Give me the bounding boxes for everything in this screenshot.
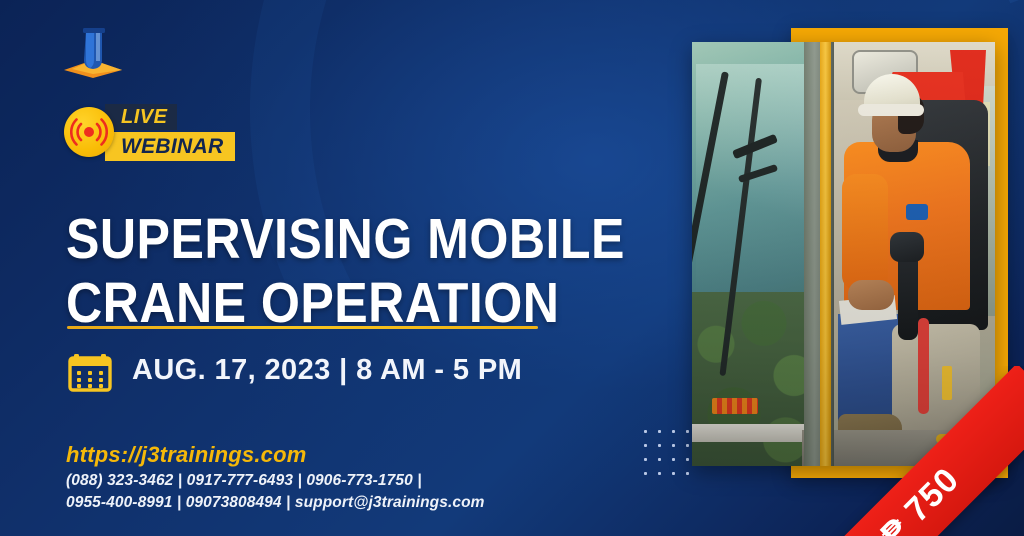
website-link[interactable]: https://j3trainings.com [66, 442, 485, 467]
dot [686, 444, 689, 447]
live-label: LIVE [105, 104, 177, 130]
title-divider [67, 326, 538, 329]
dot [644, 444, 647, 447]
dot [644, 430, 647, 433]
live-webinar-badge: LIVE WEBINAR [64, 104, 235, 160]
dot [658, 444, 661, 447]
dot [644, 472, 647, 475]
price-amount: ₱ 750 [873, 460, 967, 536]
badge-text-group: LIVE WEBINAR [105, 104, 235, 161]
calendar-icon [66, 346, 114, 394]
title-line-2: CRANE OPERATION [66, 276, 559, 331]
webinar-label: WEBINAR [105, 132, 235, 161]
live-broadcast-icon [64, 107, 114, 157]
dot [672, 458, 675, 461]
phone-line-1: (088) 323-3462 | 0917-777-6493 | 0906-77… [66, 470, 485, 492]
dot [672, 430, 675, 433]
dot [686, 458, 689, 461]
price-ribbon-area: ₱ 750 [824, 366, 1024, 536]
dot-grid-decoration [638, 424, 694, 480]
dot [686, 430, 689, 433]
schedule-row: AUG. 17, 2023 | 8 AM - 5 PM [66, 346, 522, 394]
price-ribbon: ₱ 750 [824, 366, 1024, 536]
page-title: SUPERVISING MOBILE CRANE OPERATION [66, 212, 559, 332]
contact-block: https://j3trainings.com (088) 323-3462 |… [66, 442, 485, 514]
dot [658, 430, 661, 433]
dot [658, 472, 661, 475]
phone-line-2: 0955-400-8991 | 09073808494 | support@j3… [66, 492, 485, 514]
dot [686, 472, 689, 475]
phone-numbers: (088) 323-3462 | 0917-777-6493 | 0906-77… [66, 470, 485, 514]
dot [658, 458, 661, 461]
dot [672, 472, 675, 475]
schedule-text: AUG. 17, 2023 | 8 AM - 5 PM [132, 354, 522, 387]
webinar-promo-banner: LIVE WEBINAR SUPERVISING MOBILE CRANE OP… [0, 0, 1024, 536]
dot [672, 444, 675, 447]
title-line-1: SUPERVISING MOBILE [66, 212, 559, 267]
j3-logo-icon[interactable] [62, 26, 124, 80]
dot [644, 458, 647, 461]
